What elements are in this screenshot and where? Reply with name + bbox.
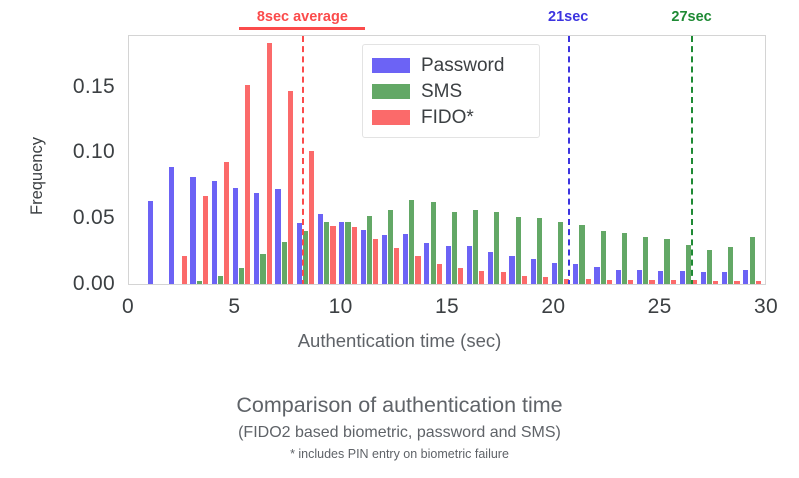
marker-line-2	[691, 36, 693, 284]
bar-password-15	[467, 246, 472, 284]
bar-password-25	[680, 271, 685, 284]
y-tick-0: 0.00	[35, 272, 115, 296]
bar-password-8	[318, 214, 323, 284]
bar-sms-16	[494, 212, 499, 284]
bar-fido-12	[415, 256, 420, 284]
bar-sms-25	[686, 245, 691, 284]
bar-fido-24	[671, 280, 676, 284]
bar-password-19	[552, 263, 557, 284]
bar-password-22	[616, 270, 621, 284]
bar-password-6	[275, 189, 280, 284]
bar-fido-7	[309, 151, 314, 284]
bar-fido-16	[501, 272, 506, 284]
bar-fido-9	[352, 227, 357, 284]
bar-password-1	[169, 167, 174, 284]
bar-fido-1	[182, 256, 187, 284]
bar-sms-26	[707, 250, 712, 284]
bar-fido-10	[373, 239, 378, 284]
bar-fido-14	[458, 268, 463, 284]
bar-sms-11	[388, 210, 393, 284]
bar-fido-4	[245, 85, 250, 284]
bar-fido-26	[713, 281, 718, 284]
bar-sms-21	[601, 231, 606, 284]
bar-sms-15	[473, 210, 478, 284]
bar-sms-4	[239, 268, 244, 284]
bar-fido-3	[224, 162, 229, 284]
bar-password-24	[658, 271, 663, 284]
bar-fido-17	[522, 276, 527, 284]
bar-sms-6	[282, 242, 287, 284]
bar-sms-9	[345, 222, 350, 284]
bar-fido-27	[734, 281, 739, 284]
x-tick-3: 15	[407, 295, 487, 319]
chart-legend: PasswordSMSFIDO*	[362, 44, 540, 138]
x-tick-2: 10	[301, 295, 381, 319]
bar-sms-14	[452, 212, 457, 284]
bar-fido-23	[649, 280, 654, 284]
x-tick-1: 5	[194, 295, 274, 319]
bar-fido-8	[330, 226, 335, 284]
bar-sms-18	[537, 218, 542, 284]
legend-swatch-icon	[372, 58, 410, 73]
bar-password-26	[701, 272, 706, 284]
y-tick-3: 0.15	[35, 75, 115, 99]
legend-swatch-icon	[372, 84, 410, 99]
bar-password-18	[531, 259, 536, 284]
bar-password-13	[424, 243, 429, 284]
bar-sms-10	[367, 216, 372, 284]
bar-fido-2	[203, 196, 208, 284]
legend-item-password[interactable]: Password	[372, 52, 527, 78]
x-tick-5: 25	[620, 295, 700, 319]
bar-sms-23	[643, 237, 648, 284]
figure-footnote: * includes PIN entry on biometric failur…	[0, 447, 799, 461]
legend-label: FIDO*	[421, 108, 474, 127]
bar-password-27	[722, 272, 727, 284]
figure-title: Comparison of authentication time	[0, 393, 799, 418]
bar-password-21	[594, 267, 599, 284]
bar-password-7	[297, 223, 302, 284]
bar-password-17	[509, 256, 514, 284]
x-axis-title: Authentication time (sec)	[0, 330, 799, 352]
x-tick-6: 30	[726, 295, 799, 319]
bar-fido-28	[756, 281, 761, 284]
bar-fido-15	[479, 271, 484, 284]
bar-fido-20	[586, 279, 591, 284]
marker-line-1	[568, 36, 570, 284]
chart-figure: 8sec average21sec27sec Frequency 0.000.0…	[0, 0, 799, 478]
bar-password-23	[637, 270, 642, 284]
bar-password-11	[382, 235, 387, 284]
bar-password-3	[212, 181, 217, 284]
bar-fido-13	[437, 264, 442, 284]
marker-underline-0	[239, 27, 365, 30]
bar-password-4	[233, 188, 238, 284]
legend-swatch-icon	[372, 110, 410, 125]
bar-password-10	[361, 230, 366, 284]
bar-fido-11	[394, 248, 399, 284]
bar-sms-17	[516, 217, 521, 284]
x-tick-0: 0	[88, 295, 168, 319]
bar-fido-18	[543, 277, 548, 284]
bar-password-2	[190, 177, 195, 284]
bar-sms-19	[558, 222, 563, 284]
bar-sms-12	[409, 200, 414, 284]
bar-password-14	[446, 246, 451, 284]
bar-sms-3	[218, 276, 223, 284]
bar-sms-28	[750, 237, 755, 284]
bar-sms-5	[260, 254, 265, 284]
legend-item-sms[interactable]: SMS	[372, 78, 527, 104]
marker-label-0: 8sec average	[212, 9, 392, 25]
legend-item-fido[interactable]: FIDO*	[372, 104, 527, 130]
bar-fido-22	[628, 280, 633, 284]
bar-sms-2	[197, 281, 202, 284]
figure-subtitle: (FIDO2 based biometric, password and SMS…	[0, 424, 799, 442]
bar-password-20	[573, 264, 578, 284]
y-tick-1: 0.05	[35, 206, 115, 230]
x-tick-4: 20	[513, 295, 593, 319]
bar-password-0	[148, 201, 153, 284]
bar-sms-27	[728, 247, 733, 284]
bar-fido-5	[267, 43, 272, 284]
bar-password-9	[339, 222, 344, 284]
bar-sms-22	[622, 233, 627, 284]
bar-sms-8	[324, 222, 329, 284]
y-tick-2: 0.10	[35, 140, 115, 164]
bar-fido-21	[607, 280, 612, 284]
bar-sms-13	[431, 202, 436, 284]
bar-fido-6	[288, 91, 293, 284]
bar-sms-24	[664, 239, 669, 284]
bar-sms-20	[579, 225, 584, 284]
bar-password-12	[403, 234, 408, 284]
bar-password-16	[488, 252, 493, 284]
marker-line-0	[302, 36, 304, 284]
legend-label: SMS	[421, 82, 462, 101]
bar-password-28	[743, 270, 748, 284]
marker-label-2: 27sec	[602, 9, 782, 25]
legend-label: Password	[421, 56, 504, 75]
bar-password-5	[254, 193, 259, 284]
